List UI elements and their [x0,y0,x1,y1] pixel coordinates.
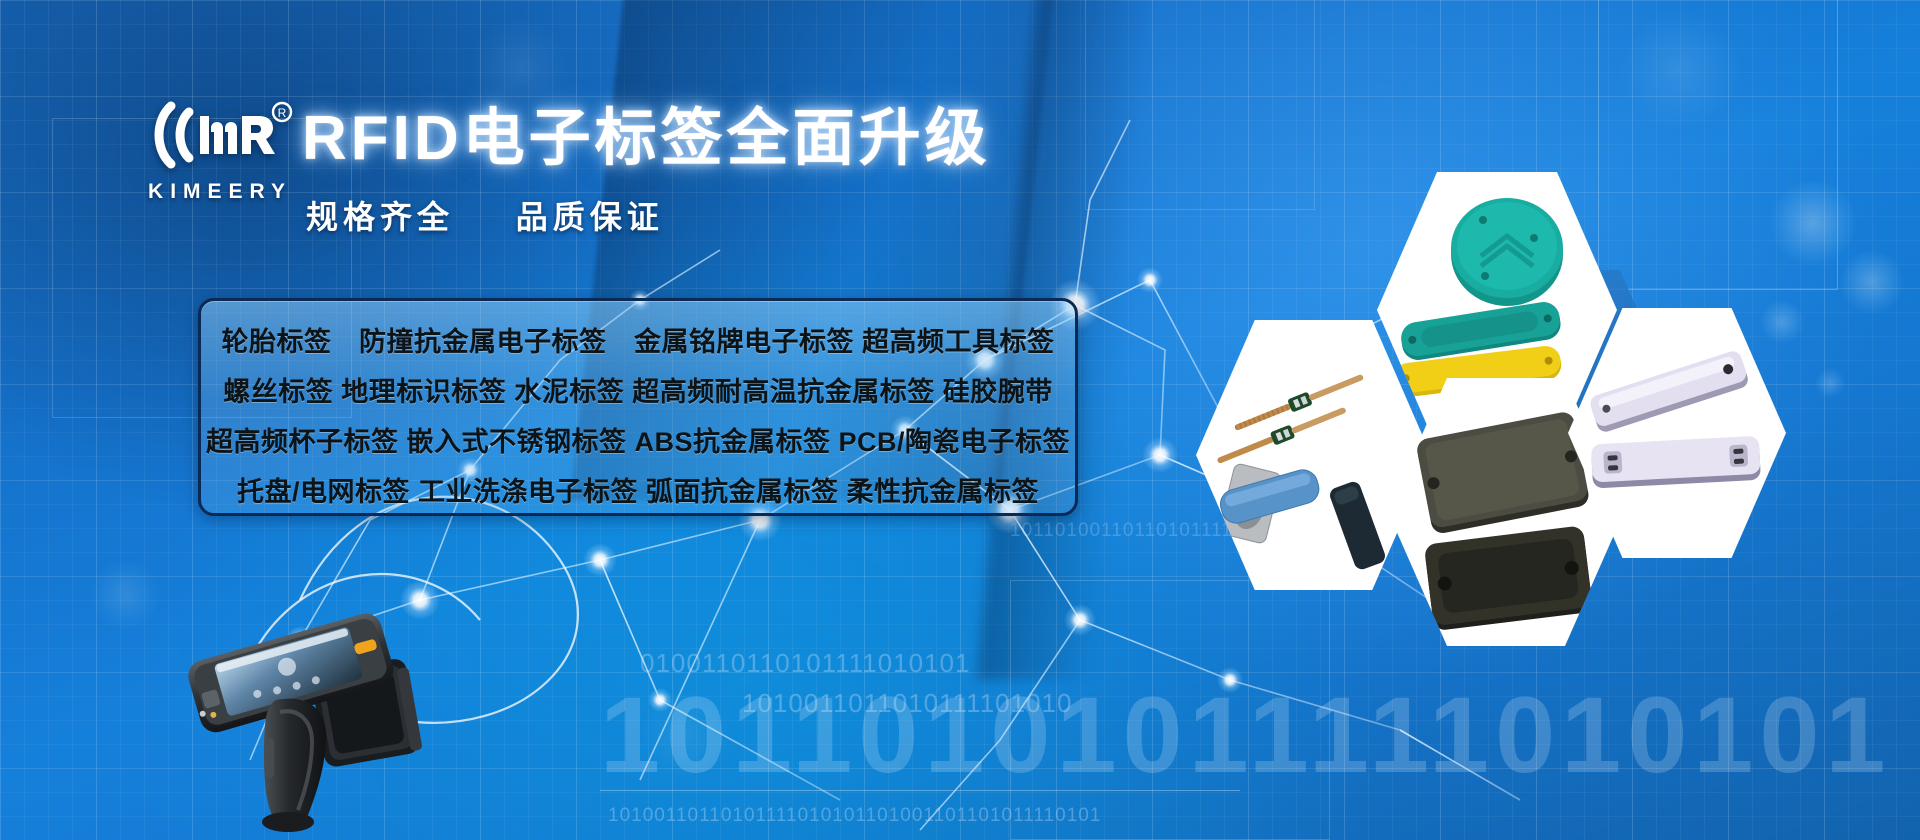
bokeh-light [640,690,730,780]
brand-logo: R KIMEERY [140,96,300,204]
bokeh-light [90,560,160,630]
subtitle-right: 品质保证 [516,199,664,235]
handheld-rfid-reader-illustration [180,608,440,838]
rfid-promo-banner: 0100110110101111010101 10100110110101111… [0,0,1920,840]
subtitle-left: 规格齐全 [306,199,454,235]
page-title: RFID电子标签全面升级 [302,108,991,170]
product-category-box: 轮胎标签 防撞抗金属电子标签 金属铭牌电子标签 超高频工具标签 螺丝标签 地理标… [198,298,1078,516]
background-frame-right [1598,0,1838,290]
product-category-row: 螺丝标签 地理标识标签 水泥标签 超高频耐高温抗金属标签 硅胶腕带 [201,364,1075,414]
kmr-signal-logo-icon: R [145,96,295,174]
binary-text-row: 0100110110101111010101 [640,648,970,679]
binary-text-row: 1010011011010111101010110100110110101111… [608,805,1101,827]
bokeh-light [1760,300,1804,344]
binary-text-large: 10110101011111010101 [600,672,1892,797]
handheld-rfid-reader [180,608,440,838]
binary-underline [600,790,1240,791]
background-frame-upper-right [1085,0,1315,210]
product-category-row: 超高频杯子标签 嵌入式不锈钢标签 ABS抗金属标签 PCB/陶瓷电子标签 [201,414,1075,464]
background-frame-bottom [1010,580,1330,840]
binary-text-row: 1010011011010111101010 [742,688,1072,719]
registered-trademark-icon: R [273,103,291,121]
screw-tag-illustration [1196,320,1431,590]
product-category-row: 轮胎标签 防撞抗金属电子标签 金属铭牌电子标签 超高频工具标签 [201,314,1075,364]
bokeh-light [1815,368,1845,398]
subtitle: 规格齐全 品质保证 [306,192,664,238]
bokeh-light [1770,180,1856,266]
hex-screw-and-blue-tags [1196,320,1431,590]
bokeh-light [1840,250,1904,314]
bokeh-light [470,18,570,118]
bokeh-light [1620,10,1740,130]
svg-text:R: R [278,106,287,120]
brand-name: KIMEERY [140,180,300,204]
product-category-row: 托盘/电网标签 工业洗涤电子标签 弧面抗金属标签 柔性抗金属标签 [201,464,1075,514]
